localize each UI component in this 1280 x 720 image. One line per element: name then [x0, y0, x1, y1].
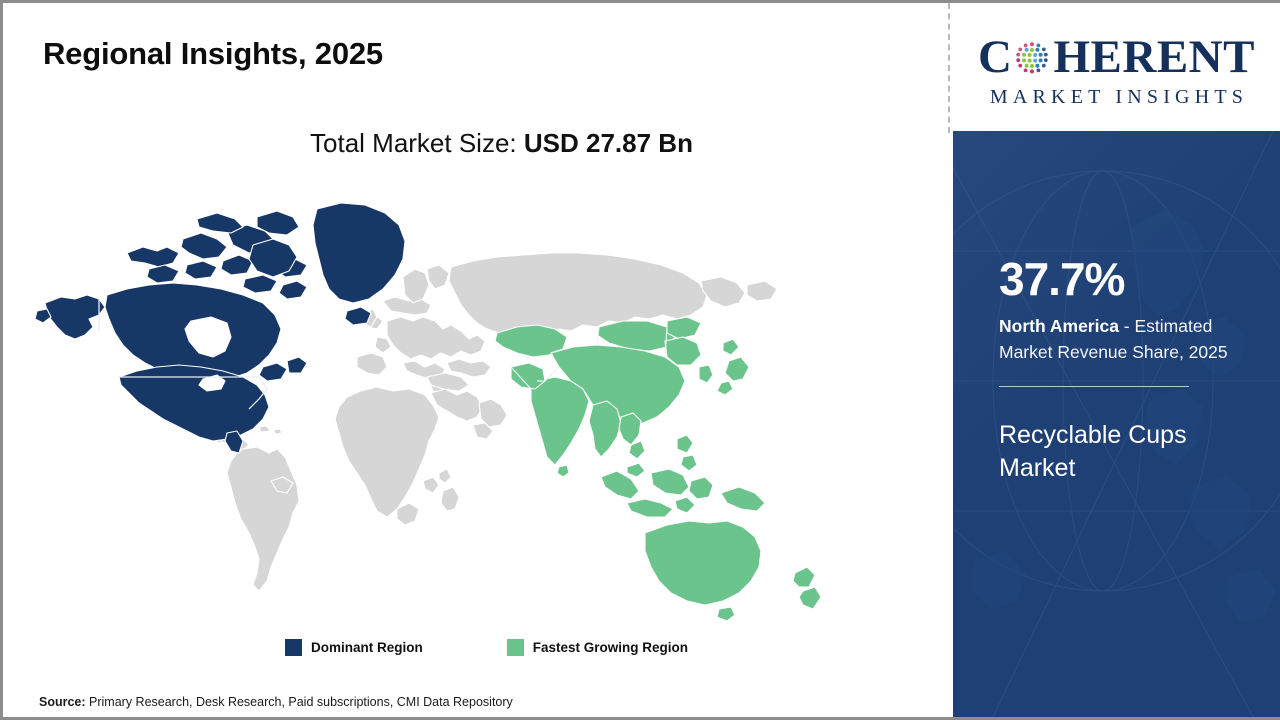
legend-swatch-fastest-growing [507, 639, 524, 656]
market-size-value: USD 27.87 Bn [524, 128, 693, 158]
infographic-slide: Regional Insights, 2025 Total Market Siz… [0, 0, 1280, 720]
legend-item-fastest-growing: Fastest Growing Region [507, 639, 688, 656]
page-title: Regional Insights, 2025 [43, 36, 383, 72]
source-label: Source: [39, 695, 86, 709]
logo-letter-c: C [978, 34, 1012, 81]
logo-subtitle: MARKET INSIGHTS [985, 86, 1248, 109]
legend-swatch-dominant [285, 639, 302, 656]
right-sidebar-panel: C [953, 3, 1280, 717]
stat-caption: North America - Estimated Market Revenue… [999, 314, 1261, 366]
legend-item-dominant: Dominant Region [285, 639, 423, 656]
market-name: Recyclable Cups Market [999, 419, 1261, 486]
stat-divider-rule [999, 386, 1189, 387]
world-map-container [31, 181, 836, 623]
logo-word-rest: HERENT [1053, 34, 1255, 81]
world-map-svg [31, 181, 836, 623]
stats-content: 37.7% North America - Estimated Market R… [999, 256, 1261, 486]
stat-region-name: North America [999, 316, 1119, 336]
legend-label-fastest-growing: Fastest Growing Region [533, 640, 688, 655]
market-size-label: Total Market Size: [310, 128, 517, 158]
map-region-asia-pacific [495, 317, 821, 621]
panel-divider [948, 3, 950, 133]
stats-panel: 37.7% North America - Estimated Market R… [953, 131, 1280, 717]
source-text: Primary Research, Desk Research, Paid su… [86, 695, 513, 709]
globe-icon [1012, 38, 1052, 78]
total-market-size: Total Market Size: USD 27.87 Bn [3, 128, 950, 159]
legend-label-dominant: Dominant Region [311, 640, 423, 655]
logo-wordmark: C [978, 32, 1255, 84]
company-logo: C [953, 3, 1280, 131]
stat-percent-value: 37.7% [999, 256, 1261, 302]
source-note: Source: Primary Research, Desk Research,… [39, 695, 513, 709]
map-legend: Dominant Region Fastest Growing Region [3, 639, 950, 656]
left-content-panel: Regional Insights, 2025 Total Market Siz… [3, 3, 950, 717]
